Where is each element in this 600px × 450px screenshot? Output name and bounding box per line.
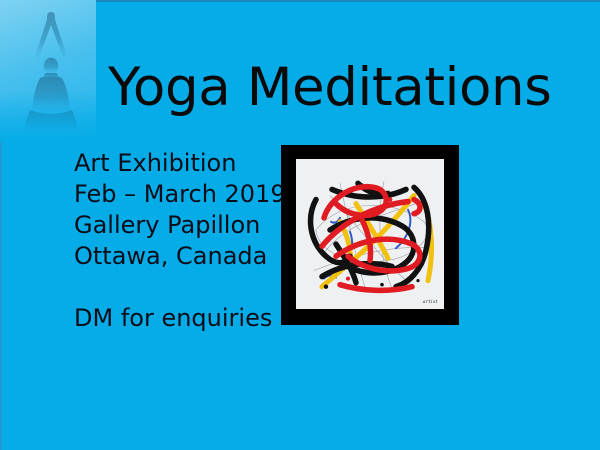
body-line-exhibition: Art Exhibition — [74, 148, 286, 179]
artwork-canvas-area: artist — [296, 159, 444, 309]
yoga-meditation-silhouette-icon — [14, 8, 88, 140]
body-line-spacer — [74, 272, 286, 303]
body-line-contact: DM for enquiries — [74, 303, 286, 334]
presentation-slide: Yoga Meditations Art Exhibition Feb – Ma… — [0, 0, 600, 450]
slide-body: Art Exhibition Feb – March 2019 Gallery … — [74, 148, 286, 334]
hero-panel — [0, 0, 96, 142]
body-line-dates: Feb – March 2019 — [74, 179, 286, 210]
body-line-gallery: Gallery Papillon — [74, 210, 286, 241]
body-line-location: Ottawa, Canada — [74, 241, 286, 272]
artwork-frame: artist — [281, 145, 459, 325]
slide-title: Yoga Meditations — [108, 60, 551, 116]
abstract-painting-artwork — [296, 159, 444, 309]
artwork-signature: artist — [423, 299, 438, 305]
